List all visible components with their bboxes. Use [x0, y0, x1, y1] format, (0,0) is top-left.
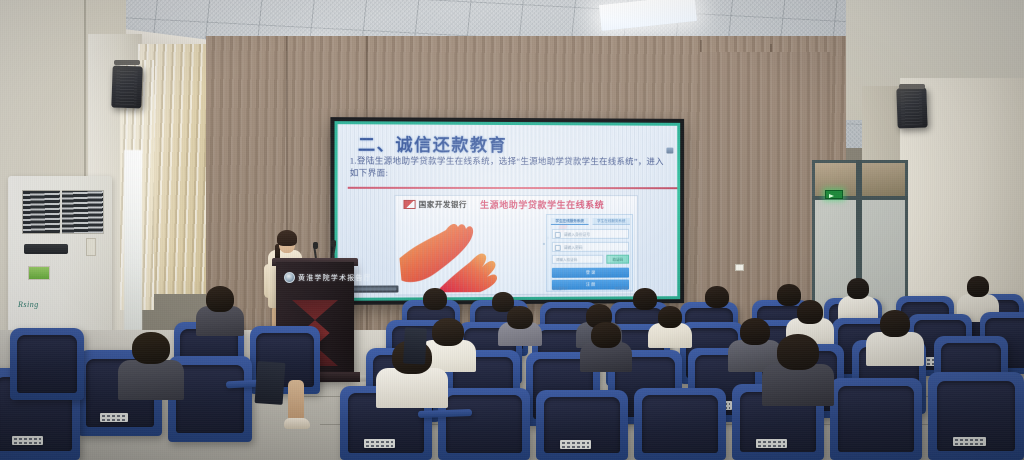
- audience-head: [797, 300, 823, 324]
- bank-name: 国家开发银行: [419, 199, 467, 210]
- audience-head: [658, 306, 682, 328]
- window-light-gap: [124, 150, 142, 330]
- username-field[interactable]: 请输入身份证号: [552, 229, 629, 239]
- audience-member: [700, 286, 734, 312]
- audience-head: [206, 286, 234, 312]
- auditorium-seat[interactable]: [438, 388, 530, 460]
- podium-label: 黄淮学院学术报告厅: [298, 273, 372, 283]
- ac-vent-divider: [60, 190, 62, 234]
- lock-icon: [555, 245, 561, 251]
- slide-title: 二、诚信还款教育: [358, 130, 507, 156]
- audience-head: [423, 288, 447, 310]
- captcha-image[interactable]: 验证码: [606, 255, 629, 264]
- air-conditioner: Rsing: [8, 176, 112, 344]
- seat-number-tag: [756, 439, 787, 448]
- presentation-slide: 二、诚信还款教育 1.登陆生源地助学贷款学生在线系统，选择“生源地助学贷款学生在…: [338, 124, 678, 298]
- audience-head: [591, 322, 621, 348]
- audience-member: [866, 310, 924, 360]
- login-button[interactable]: 登 录: [552, 268, 629, 278]
- system-name: 生源地助学贷款学生在线系统: [480, 198, 604, 211]
- embedded-website-screenshot: 国家开发银行 生源地助学贷款学生在线系统: [394, 195, 638, 296]
- login-tabs: 学生在线服务系统 学生在线服务系统: [551, 218, 630, 225]
- auditorium-seat[interactable]: [634, 388, 726, 460]
- wall-socket: [735, 264, 744, 271]
- audience-torso: [866, 332, 924, 366]
- taskbar-item[interactable]: [352, 287, 397, 290]
- login-tab-student[interactable]: 学生在线服务系统: [551, 218, 589, 225]
- seat-number-tag: [953, 437, 986, 446]
- ac-brand-logo: Rsing: [18, 300, 39, 309]
- hands-heart-illustration: [397, 214, 528, 293]
- audience-member: [418, 288, 452, 314]
- user-icon: [555, 232, 561, 238]
- auditorium-seat[interactable]: [928, 372, 1024, 460]
- wall-speaker-left: [111, 65, 142, 108]
- slide-corner-icon: [666, 148, 673, 154]
- wall-speaker-right: [896, 87, 927, 128]
- audience-head: [132, 332, 170, 364]
- audience-member: [498, 306, 542, 340]
- university-crest-icon: [284, 272, 295, 283]
- audience-head: [777, 334, 819, 370]
- login-panel: 学生在线服务系统 学生在线服务系统 请输入身份证号 请输入密码 请输入验证码: [546, 214, 633, 292]
- login-tab-alt[interactable]: 学生在线服务系统: [593, 218, 631, 225]
- speaker-bracket: [899, 84, 925, 89]
- audience-head: [507, 306, 533, 329]
- seat-cushion: [838, 386, 913, 452]
- microphone-head-icon: [313, 242, 318, 249]
- password-field[interactable]: 请输入密码: [552, 242, 629, 252]
- forgot-password-link[interactable]: 忘记密码？: [552, 286, 569, 291]
- seat-number-tag: [12, 436, 43, 445]
- audience-torso: [762, 364, 834, 406]
- slide-divider-rule: [348, 187, 678, 189]
- lecture-hall-photo: Rsing 二、诚信还款教育 1.登陆生源地助学贷款学生在线系统，选择“生源地助…: [0, 0, 1024, 460]
- presenter-leg: [288, 380, 304, 422]
- speaker-bracket: [114, 60, 140, 65]
- audience-member: [762, 334, 834, 396]
- audience-member: [196, 286, 244, 330]
- auditorium-seat[interactable]: [830, 378, 922, 460]
- ac-energy-label: [28, 266, 50, 280]
- auditorium-seat[interactable]: [536, 390, 628, 460]
- folding-tablet-arm[interactable]: [403, 327, 427, 364]
- seat-cushion: [642, 395, 717, 453]
- audience-head: [880, 310, 910, 337]
- ac-control-panel[interactable]: [24, 244, 68, 254]
- username-placeholder: 请输入身份证号: [564, 233, 590, 237]
- bank-logo-icon: [403, 200, 415, 209]
- seat-cushion: [176, 365, 245, 434]
- presenter-shoe: [284, 418, 310, 429]
- projector-screen: 二、诚信还款教育 1.登陆生源地助学贷款学生在线系统，选择“生源地助学贷款学生在…: [330, 117, 684, 305]
- presenter-lower-body: [286, 380, 314, 440]
- seat-number-tag: [560, 440, 591, 449]
- audience-member: [118, 332, 184, 392]
- captcha-input[interactable]: 请输入验证码: [552, 255, 604, 264]
- ac-vent-grill: [22, 190, 104, 234]
- seat-cushion: [17, 335, 78, 393]
- audience-member: [580, 322, 632, 366]
- screen-border: 二、诚信还款教育 1.登陆生源地助学贷款学生在线系统，选择“生源地助学贷款学生在…: [335, 121, 681, 301]
- faq-link[interactable]: 常见问题: [615, 286, 628, 291]
- microphone-head-icon: [331, 240, 336, 247]
- seat-number-tag: [364, 439, 395, 448]
- folding-tablet-arm[interactable]: [255, 361, 286, 405]
- seat-number-tag: [100, 413, 129, 422]
- audience-torso: [376, 368, 448, 408]
- ac-sticker: [86, 238, 96, 256]
- audience-head: [847, 278, 869, 299]
- slide-body-text: 1.登陆生源地助学贷款学生在线系统，选择“生源地助学贷款学生在线系统”，进入如下…: [350, 155, 670, 180]
- audience-torso: [118, 360, 184, 400]
- audience-member: [648, 306, 692, 342]
- auditorium-seat[interactable]: [10, 328, 84, 400]
- audience-head: [705, 286, 729, 308]
- password-placeholder: 请输入密码: [564, 246, 583, 250]
- audience-head: [967, 276, 989, 297]
- presenter-hair: [277, 230, 297, 246]
- seat-cushion: [446, 395, 521, 453]
- exit-sign-icon: [825, 190, 843, 199]
